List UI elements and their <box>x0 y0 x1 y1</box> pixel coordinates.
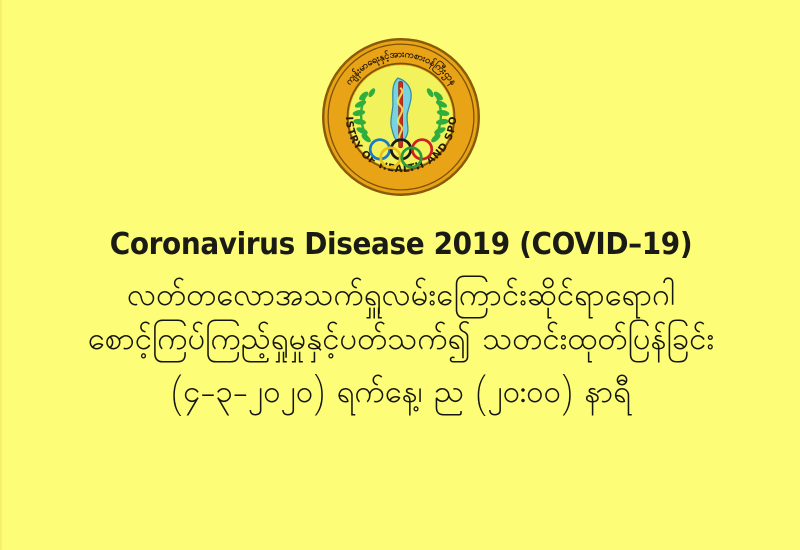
announcement-poster: ကျန်းမာရေးနှင့်အားကစားဝန်ကြီးဌာန MINISTR… <box>0 0 800 550</box>
announcement-datetime-line: (၄-၃-၂၀၂၀) ရက်နေ့၊ ည (၂၀:၀၀) နာရီ <box>2 374 800 417</box>
ministry-seal: ကျန်းမာရေးနှင့်အားကစားဝန်ကြီးဌာန MINISTR… <box>320 36 482 198</box>
announcement-text-block: Coronavirus Disease 2019 (COVID–19) လတ်တ… <box>2 228 800 417</box>
announcement-line-2: စောင့်ကြပ်ကြည့်ရှုမှုနှင့်ပတ်သက်၍ သတင်းထ… <box>2 321 800 364</box>
ministry-seal-graphic: ကျန်းမာရေးနှင့်အားကစားဝန်ကြီးဌာန MINISTR… <box>320 36 482 198</box>
caduceus-rod-icon <box>398 81 403 147</box>
announcement-line-1: လတ်တလောအသက်ရှူလမ်းကြောင်းဆိုင်ရာရောဂါ <box>2 277 800 320</box>
page-title-english: Coronavirus Disease 2019 (COVID–19) <box>30 228 772 263</box>
